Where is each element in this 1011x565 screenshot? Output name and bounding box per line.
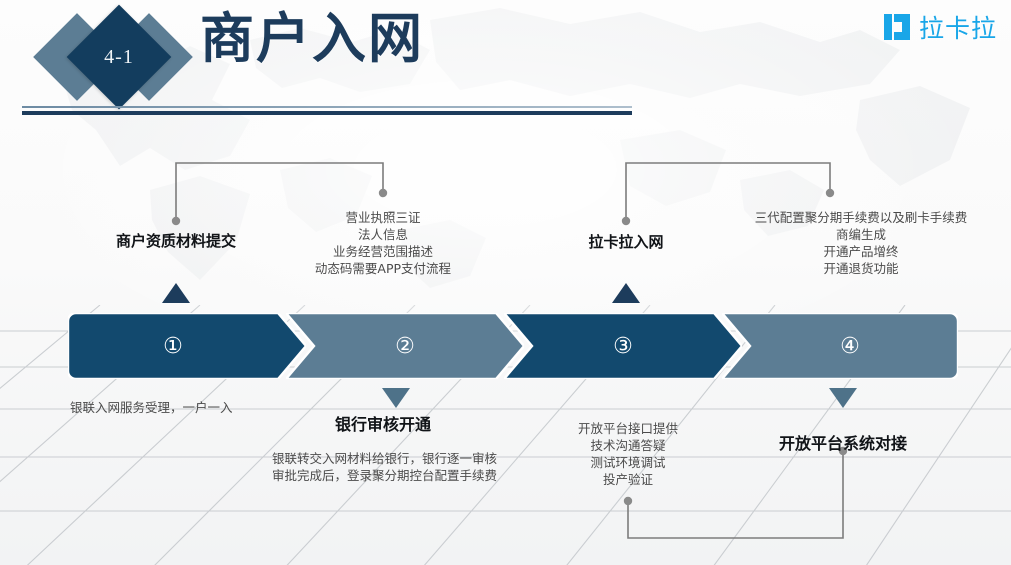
step-2-detail-top-line-3: 业务经营范围描述 [283,243,483,260]
step-2-detail-top-line-1: 营业执照三证 [283,209,483,226]
step-3-detail-bottom: 开放平台接口提供 技术沟通答疑 测试环境调试 投产验证 [548,420,708,488]
process-step-3[interactable]: ③ [504,313,742,379]
page-title: 商户入网 [200,12,424,66]
step-4-detail-top-line-3: 开通产品增终 [718,243,1004,260]
marker-down-step-2 [382,388,410,408]
marker-down-step-4 [829,388,857,408]
step-4-detail-top-line-4: 开通退货功能 [718,260,1004,277]
brand-logo: 拉卡拉 [884,9,997,45]
step-4-detail-top-line-2: 商编生成 [718,226,1004,243]
title-rule-thick [22,111,632,115]
step-2-detail-bottom-line-1: 银联转交入网材料给银行，银行逐一审核 [272,450,494,467]
slide-number-label: 4-1 [82,20,156,94]
step-2-title: 银行审核开通 [283,411,483,435]
step-3-detail-bottom-line-1: 开放平台接口提供 [548,420,708,437]
step-3-detail-bottom-line-2: 技术沟通答疑 [548,437,708,454]
title-rule-thin [22,106,632,108]
slide-canvas: 4-1 商户入网 拉卡拉 [0,0,1011,565]
step-2-detail-bottom-line-2: 审批完成后，登录聚分期控台配置手续费 [272,467,494,484]
step-3-detail-bottom-line-3: 测试环境调试 [548,454,708,471]
slide-number-badge: 4-1 [34,6,206,110]
step-4-detail-top: 三代配置聚分期手续费以及刷卡手续费 商编生成 开通产品增终 开通退货功能 [718,209,1004,277]
step-2-detail-top: 营业执照三证 法人信息 业务经营范围描述 动态码需要APP支付流程 [283,209,483,277]
step-2-detail-top-line-2: 法人信息 [283,226,483,243]
step-2-detail-bottom: 银联转交入网材料给银行，银行逐一审核 审批完成后，登录聚分期控台配置手续费 [272,450,494,484]
step-4-detail-top-line-1: 三代配置聚分期手续费以及刷卡手续费 [718,209,1004,226]
process-bar: ① ② ③ ④ [68,313,958,379]
step-1-title: 商户资质材料提交 [76,230,276,251]
step-3-title: 拉卡拉入网 [546,231,706,252]
step-4-title: 开放平台系统对接 [743,430,943,454]
process-step-1[interactable]: ① [68,313,306,379]
lakala-l-mark-icon [884,14,910,40]
process-step-2[interactable]: ② [286,313,524,379]
step-3-detail-bottom-line-4: 投产验证 [548,471,708,488]
step-2-detail-top-line-4: 动态码需要APP支付流程 [283,260,483,277]
brand-name: 拉卡拉 [919,9,997,45]
step-1-detail: 银联入网服务受理，一户一入 [70,399,233,416]
marker-up-step-1 [162,283,190,303]
marker-up-step-3 [612,283,640,303]
process-step-4[interactable]: ④ [722,313,958,379]
